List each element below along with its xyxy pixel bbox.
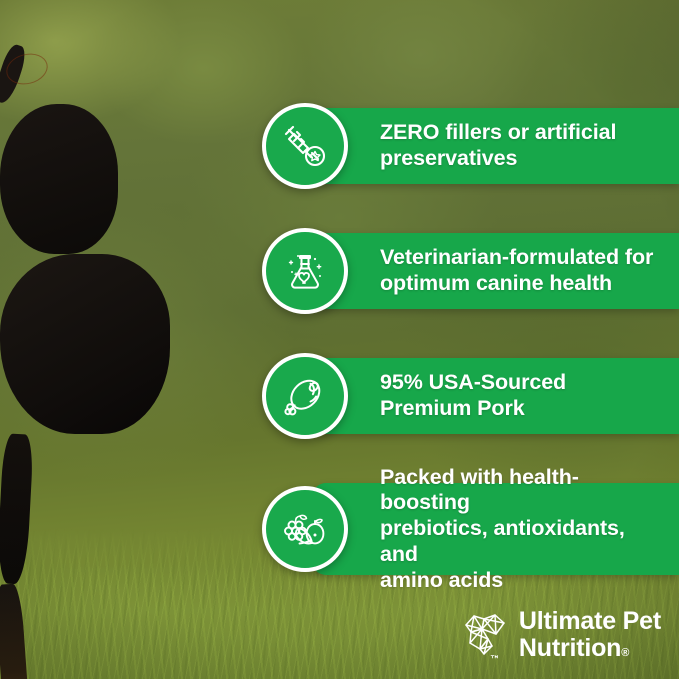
registered-mark: ® [621, 647, 629, 659]
ham-hock-icon [262, 353, 348, 439]
feature-bar-4[interactable]: Packed with health-boosting prebiotics, … [312, 483, 679, 575]
fruits-grapes-banana-apple-icon [262, 486, 348, 572]
flask-heart-icon [262, 228, 348, 314]
feature-bar-1[interactable]: ZERO fillers or artificial preservatives [312, 108, 679, 184]
feature-bar-2[interactable]: Veterinarian-formulated for optimum cani… [312, 233, 679, 309]
feature-bar-3[interactable]: 95% USA-Sourced Premium Pork [312, 358, 679, 434]
brand-logo-text: Ultimate Pet Nutrition® [519, 608, 661, 661]
syringe-no-preservatives-icon [262, 103, 348, 189]
feature-text-1: ZERO fillers or artificial preservatives [312, 120, 628, 172]
brand-logo-line2: Nutrition® [519, 635, 661, 662]
brand-logo: Ultimate Pet Nutrition® [462, 608, 661, 661]
feature-text-4: Packed with health-boosting prebiotics, … [312, 465, 679, 594]
geometric-dog-head-logo-icon [462, 610, 508, 660]
feature-text-3: 95% USA-Sourced Premium Pork [312, 370, 578, 422]
feature-list: ZERO fillers or artificial preservatives… [0, 0, 679, 679]
feature-text-2: Veterinarian-formulated for optimum cani… [312, 245, 665, 297]
brand-logo-line1: Ultimate Pet [519, 608, 661, 635]
